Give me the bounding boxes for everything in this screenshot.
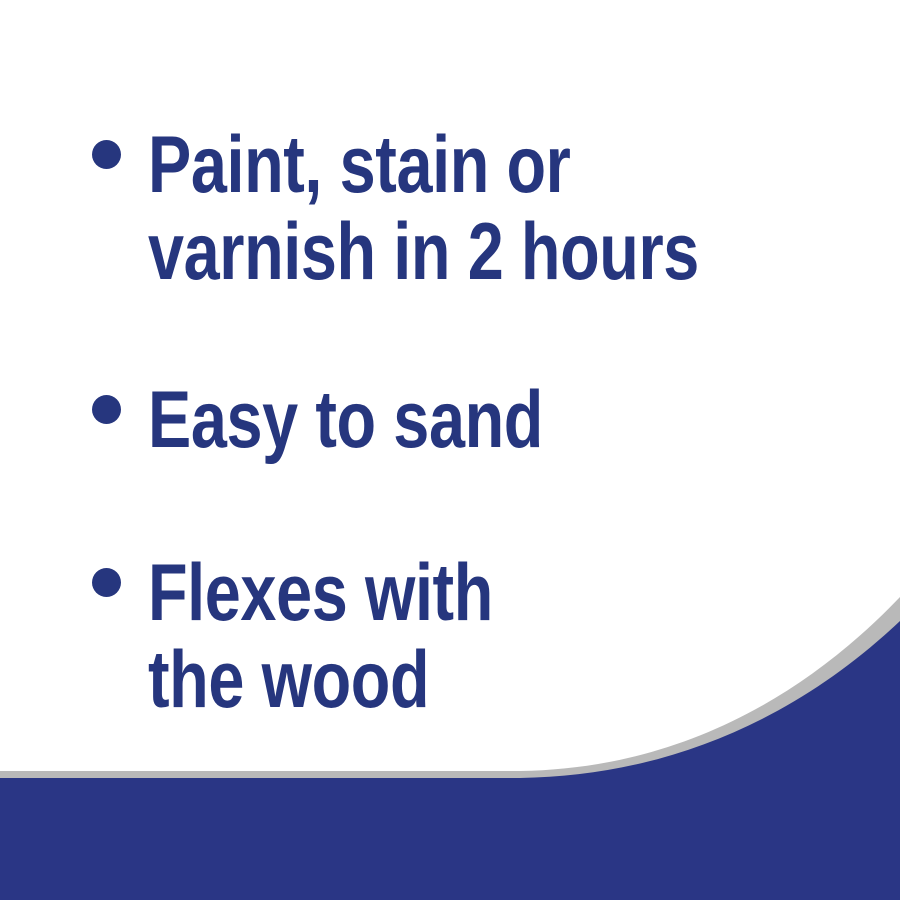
bullet-item-paint-stain-varnish: Paint, stain or varnish in 2 hours: [92, 122, 837, 296]
feature-poster: Paint, stain or varnish in 2 hours Easy …: [0, 0, 900, 900]
bullet-dot-icon: [92, 395, 121, 424]
feature-bullet-list: Paint, stain or varnish in 2 hours Easy …: [0, 0, 900, 900]
bullet-text-block: Paint, stain or varnish in 2 hours: [148, 122, 699, 296]
bullet-item-flexes-with-the-wood: Flexes with the wood: [92, 550, 579, 724]
bullet-text-block: Flexes with the wood: [148, 550, 493, 724]
bullet-line: varnish in 2 hours: [148, 209, 699, 296]
bullet-text-block: Easy to sand: [148, 377, 543, 464]
bullet-line: Paint, stain or: [148, 122, 699, 209]
bullet-dot-icon: [92, 568, 121, 597]
bullet-line: Easy to sand: [148, 377, 543, 464]
bullet-item-easy-to-sand: Easy to sand: [92, 377, 642, 464]
bullet-dot-icon: [92, 140, 121, 169]
bullet-line: the wood: [148, 637, 493, 724]
bullet-line: Flexes with: [148, 550, 493, 637]
